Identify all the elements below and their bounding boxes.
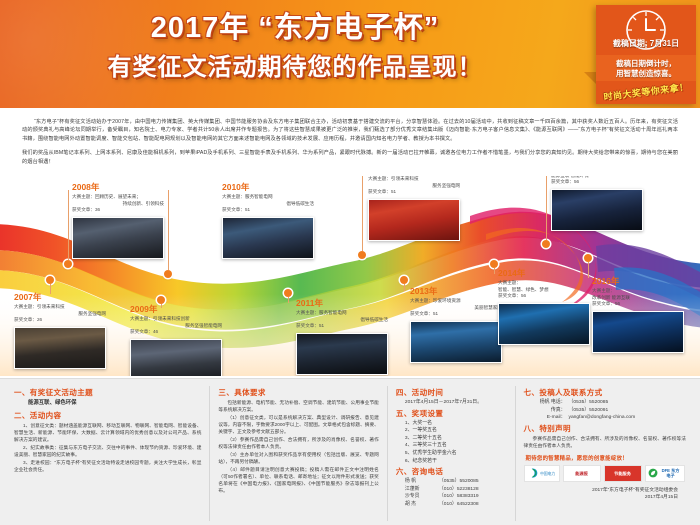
- submit-contact-key-1: 杨帆 电话：: [538, 399, 566, 407]
- timeline-stem-2011: [288, 297, 289, 303]
- timeline-count-2014: 获奖文章：56: [498, 293, 590, 300]
- intro-section: “东方电子”杯有奖征文活动始办于2007年，由中国电力传媒集团、英大传媒集团、中…: [0, 108, 700, 176]
- timeline-count-2010: 获奖文章：51: [222, 207, 314, 214]
- section-heading-2: 二、活动内容: [14, 409, 201, 422]
- timeline-stem-2015: [546, 176, 547, 240]
- details-panel: 一、有奖征文活动主题 能源互联、绿色环保 二、活动内容 1、创意征文类：题材涵盖…: [0, 378, 700, 525]
- contact-row-3: 沙专员（010）58383319: [396, 493, 507, 501]
- section-3-lead: 包括新能源、电机节能、无功补偿、空调节能、建筑节能、公用事业节能等系统解决方案。: [218, 399, 378, 413]
- section-heading-7: 七、投稿人及联系方式: [524, 386, 686, 399]
- submit-contact-key-3: E-mail：: [538, 414, 566, 422]
- section-heading-1: 一、有奖征文活动主题: [14, 386, 201, 399]
- timeline-dot-2011[interactable]: [284, 289, 292, 297]
- timeline-year-2009: 2009年: [130, 304, 222, 315]
- timeline-count-2015: 获奖文章：56: [551, 179, 643, 186]
- timeline-card-2015[interactable]: 2015年 大赛主题： 能源互联 智能环保 获奖文章：56: [551, 176, 643, 231]
- timeline-photo-2011: [296, 333, 388, 375]
- timeline-theme-2016: 大赛主题：: [592, 288, 684, 295]
- details-columns: 一、有奖征文活动主题 能源互联、绿色环保 二、活动内容 1、创意征文类：题材涵盖…: [0, 379, 700, 525]
- award-item-5: 5、优秀学生助学金六名: [396, 450, 507, 458]
- state-grid-logo: 中国电力: [524, 465, 560, 482]
- timeline-theme-2014: 大赛主题：: [498, 280, 590, 287]
- theme-label: 大赛主题：: [14, 304, 37, 309]
- timeline-dot-2014[interactable]: [490, 260, 498, 268]
- china-energy-news-logo: 能源报: [563, 465, 601, 482]
- photo-placeholder: [15, 328, 105, 368]
- count-label: 获奖文章：: [14, 317, 37, 322]
- timeline-theme-2008: 大赛主题：回顾历史、展望未来；: [72, 194, 164, 201]
- section-heading-4: 四、活动时间: [396, 386, 507, 399]
- section-3-item-1: （1）创意征文类，可以是系统解决方案、典型设计、调研报告、意见建议等，内容不限，…: [218, 414, 378, 435]
- timeline-dot-2009[interactable]: [157, 296, 165, 304]
- section-3-item-3: （3）主办单位对入围和获奖作品享有使用权（包括出版、展览、专题网站），不再另付稿…: [218, 451, 378, 465]
- svg-text:中国电力: 中国电力: [540, 471, 555, 476]
- countdown-badge: 截稿日期: 7月31日 截稿日期倒计时， 用智慧创造惊喜。 时尚大奖等你来拿！: [596, 5, 696, 104]
- section-2-item-2: 2、纪实故事类：征集与东方电子交流、交往中的事件、体现节约资源、珍爱环境、建设美…: [14, 444, 201, 458]
- details-column-3: 四、活动时间 2017年4月15日－2017年7月31日。 五、奖项设置 1、大…: [387, 386, 515, 521]
- timeline-stem-2014: [494, 268, 495, 274]
- intro-paragraph-1: “东方电子”杯有奖征文活动始办于2007年，由中国电力传媒集团、英大传媒集团、中…: [22, 118, 678, 143]
- timeline-section: 2007年 大赛主题：引领未来科技 服务坚强电网 获奖文章：26 2008年 大…: [0, 176, 700, 376]
- photo-placeholder: [411, 322, 501, 362]
- countdown-note-line2: 用智慧创造惊喜。: [596, 69, 696, 79]
- contact-name-4: 胡 杰: [405, 501, 439, 509]
- section-3-item-2: （2）参赛作品需自己创作、合法拥有，所涉及的肖像权、名誉权、著作权等法律责任由作…: [218, 436, 378, 450]
- timeline-photo-2015: [551, 189, 643, 231]
- contact-phone-4: （010）64522308: [439, 502, 479, 507]
- section-1-subtitle: 能源互联、绿色环保: [14, 399, 201, 408]
- footer-org: 2017年“东方电子杯”有奖征文活动组委会: [524, 487, 686, 494]
- timeline-photo-2008: [72, 217, 164, 259]
- closing-slogan: 期待您的智慧精品，愿您的创意能绽放！: [524, 454, 686, 462]
- section-8-body: 参赛作品需自己创作、合法拥有、所涉及的肖像权、名誉权、著作权等法律责任由作者本人…: [524, 435, 686, 449]
- timeline-card-2008[interactable]: 2008年 大赛主题：回顾历史、展望未来； 持续创新、引领科技 获奖文章：36: [72, 182, 164, 259]
- timeline-dot-2013[interactable]: [400, 276, 408, 284]
- dfe-leaf-icon: [648, 467, 658, 479]
- timeline-theme-2010: 大赛主题：服务智能电网: [222, 194, 314, 201]
- award-item-1: 1、大奖一名: [396, 420, 507, 428]
- photo-placeholder: [369, 200, 459, 240]
- photo-placeholder: [223, 218, 313, 258]
- section-3-item-4: （4）邮件题目请注明创意大赛投稿；投稿人需在邮件正文中注明姓名（可50作者署名）…: [218, 466, 378, 494]
- timeline-photo-2009: [130, 339, 222, 376]
- timeline-card-2009[interactable]: 2009年 大赛主题：引领未来科技创新 服务坚强智能电网 获奖文章：46: [130, 304, 222, 376]
- timeline-card-2007[interactable]: 2007年 大赛主题：引领未来科技 服务坚强电网 获奖文章：26: [14, 292, 106, 369]
- page-title-line1: 2017年 “东方电子杯”: [0, 8, 590, 48]
- footer-date: 2017年4月15日: [524, 494, 686, 501]
- details-column-2: 三、具体要求 包括新能源、电机节能、无功补偿、空调节能、建筑节能、公用事业节能等…: [209, 386, 386, 521]
- timeline-card-2014[interactable]: 2014年 大赛主题： 智能、智慧、绿色、梦想 获奖文章：56: [498, 268, 590, 345]
- china-electric-power-label: 节能服务: [614, 471, 631, 476]
- award-item-6: 6、纪念奖若干: [396, 458, 507, 466]
- section-2-item-1: 1、创意征文类：题材涵盖能源互联网、移动互联网、物联网、智能电网、智能设备、智慧…: [14, 422, 201, 443]
- timeline-count-2009: 获奖文章：46: [130, 329, 222, 336]
- timeline-dot-2015[interactable]: [542, 240, 550, 248]
- timeline-theme-2012: 大赛主题：引领未来科技: [368, 176, 460, 183]
- timeline-card-2013[interactable]: 2013年 大赛主题：珍爱环境资源 美丽智慧家园 获奖文章：51: [410, 286, 502, 363]
- timeline-year-2011: 2011年: [296, 298, 388, 309]
- dfe-label: DFE 东方电子: [660, 468, 682, 478]
- contact-phone-2: （010）52238128: [439, 487, 479, 492]
- photo-placeholder: [499, 304, 589, 344]
- countdown-clock-area: 截稿日期: 7月31日: [596, 5, 696, 55]
- award-item-2: 2、一等奖五名: [396, 427, 507, 435]
- countdown-note-line1: 截稿日期倒计时，: [596, 59, 696, 69]
- china-electric-power-logo: 节能服务: [604, 465, 642, 482]
- timeline-count-2016: 获奖文章：56: [592, 301, 684, 308]
- details-column-4: 七、投稿人及联系方式 杨帆 电话：（0535）5520085 传真：（0535）…: [515, 386, 686, 521]
- timeline-dot-2010[interactable]: [164, 270, 172, 278]
- photo-placeholder: [131, 340, 221, 376]
- contact-phone-3: （010）58383319: [439, 494, 479, 499]
- contact-row-2: 江蓬新（010）52238128: [396, 486, 507, 494]
- submit-contact-row-1: 杨帆 电话：（0535）5520085: [524, 399, 686, 407]
- timeline-count-2007: 获奖文章：26: [14, 317, 106, 324]
- photo-placeholder: [297, 334, 387, 374]
- timeline-card-2011[interactable]: 2011年 大赛主题：服务智能电网 倡导低碳生活 获奖文章：51: [296, 298, 388, 375]
- timeline-theme-2011: 大赛主题：服务智能电网: [296, 310, 388, 317]
- award-item-3: 3、二等奖十五名: [396, 435, 507, 443]
- submit-contact-row-2: 传真：（0535）5520091: [524, 407, 686, 415]
- contact-row-1: 杨 帆（0535）5520085: [396, 478, 507, 486]
- timeline-stem-2010: [168, 190, 169, 270]
- timeline-theme-2013: 大赛主题：珍爱环境资源: [410, 298, 502, 305]
- photo-placeholder: [73, 218, 163, 258]
- section-heading-6: 六、咨询电话: [396, 465, 507, 478]
- submit-contact-key-2: 传真：: [538, 407, 566, 415]
- timeline-photo-2012: [368, 199, 460, 241]
- section-4-value: 2017年4月15日－2017年7月31日。: [396, 399, 507, 407]
- china-energy-news-label: 能源报: [575, 471, 588, 476]
- state-grid-icon: 中国电力: [527, 466, 557, 480]
- timeline-photo-2010: [222, 217, 314, 259]
- timeline-photo-2013: [410, 321, 502, 363]
- timeline-count-2008: 获奖文章：36: [72, 207, 164, 214]
- submit-contact-row-3: E-mail：yangfan@dongfang-china.com: [524, 414, 686, 422]
- contact-name-3: 沙专员: [405, 493, 439, 501]
- timeline-year-2008: 2008年: [72, 182, 164, 193]
- sponsor-logos: 中国电力 能源报 节能服务 DFE 东方电子: [524, 465, 686, 482]
- header-banner: 2017年 “东方电子杯” 有奖征文活动期待您的作品呈现！: [0, 0, 700, 108]
- section-heading-3: 三、具体要求: [218, 386, 378, 399]
- timeline-dot-2016[interactable]: [584, 254, 592, 262]
- timeline-dot-2008[interactable]: [64, 260, 72, 268]
- photo-placeholder: [552, 190, 642, 230]
- timeline-dot-2012[interactable]: [358, 251, 366, 259]
- timeline-count-2013: 获奖文章：51: [410, 311, 502, 318]
- submit-contact-val-1: （0535）5520085: [569, 400, 609, 405]
- submit-contact-email[interactable]: yangfan@dongfang-china.com: [569, 415, 636, 420]
- timeline-photo-2016: [592, 311, 684, 353]
- section-heading-8: 八、特别声明: [524, 422, 686, 435]
- timeline-stem-2013: [404, 284, 405, 291]
- timeline-stem-2008: [68, 190, 69, 260]
- timeline-year-2007: 2007年: [14, 292, 106, 303]
- section-2-item-3: 3、走进校园：“东方电子杯”有奖征文活动特设走进校园专题，关注大学生成长，彰显企…: [14, 459, 201, 473]
- timeline-stem-2012: [362, 176, 363, 251]
- banner-title-wrap: 2017年 “东方电子杯” 有奖征文活动期待您的作品呈现！: [0, 8, 590, 86]
- details-column-1: 一、有奖征文活动主题 能源互联、绿色环保 二、活动内容 1、创意征文类：题材涵盖…: [14, 386, 209, 521]
- timeline-theme-2009: 大赛主题：引领未来科技创新: [130, 316, 222, 323]
- submit-contact-val-2: （0535）5520091: [569, 408, 609, 413]
- page-title-line2: 有奖征文活动期待您的作品呈现！: [0, 50, 590, 86]
- timeline-year-2016: 2016年: [592, 276, 684, 287]
- contact-row-4: 胡 杰（010）64522308: [396, 501, 507, 509]
- timeline-theme-2007: 大赛主题：引领未来科技: [14, 304, 106, 311]
- timeline-count-2011: 获奖文章：51: [296, 323, 388, 330]
- award-item-4: 4、三等奖三十五名: [396, 442, 507, 450]
- timeline-count-2012: 获奖文章：51: [368, 189, 460, 196]
- photo-placeholder: [593, 312, 683, 352]
- timeline-card-2016[interactable]: 2016年 大赛主题： 改革创新 能源互联 获奖文章：56: [592, 276, 684, 353]
- countdown-ribbon-text: 时尚大奖等你来拿！: [592, 78, 700, 104]
- intro-paragraph-2: 我们的奖品从IBM笔记本系列、上网本系列、尼康及佳能相机系列，到苹果iPAD及手…: [22, 149, 678, 166]
- timeline-card-2010[interactable]: 2010年 大赛主题：服务智能电网 倡导低碳生活 获奖文章：51: [222, 182, 314, 259]
- timeline-year-2010: 2010年: [222, 182, 314, 193]
- timeline-year-2014: 2014年: [498, 268, 590, 279]
- contact-name-2: 江蓬新: [405, 486, 439, 494]
- timeline-dot-2007[interactable]: [46, 276, 54, 284]
- timeline-photo-2014: [498, 303, 590, 345]
- timeline-card-2012[interactable]: 2012年 大赛主题：引领未来科技 服务坚强电网 获奖文章：51: [368, 176, 460, 241]
- timeline-stem-2016: [588, 262, 589, 278]
- contact-phone-1: （0535）5520085: [439, 479, 479, 484]
- contact-name-1: 杨 帆: [405, 478, 439, 486]
- timeline-photo-2007: [14, 327, 106, 369]
- timeline-year-2013: 2013年: [410, 286, 502, 297]
- dfe-logo: DFE 东方电子: [645, 465, 685, 482]
- section-heading-5: 五、奖项设置: [396, 407, 507, 420]
- countdown-note: 截稿日期倒计时， 用智慧创造惊喜。: [596, 55, 696, 81]
- countdown-deadline-label: 截稿日期: 7月31日: [596, 38, 696, 49]
